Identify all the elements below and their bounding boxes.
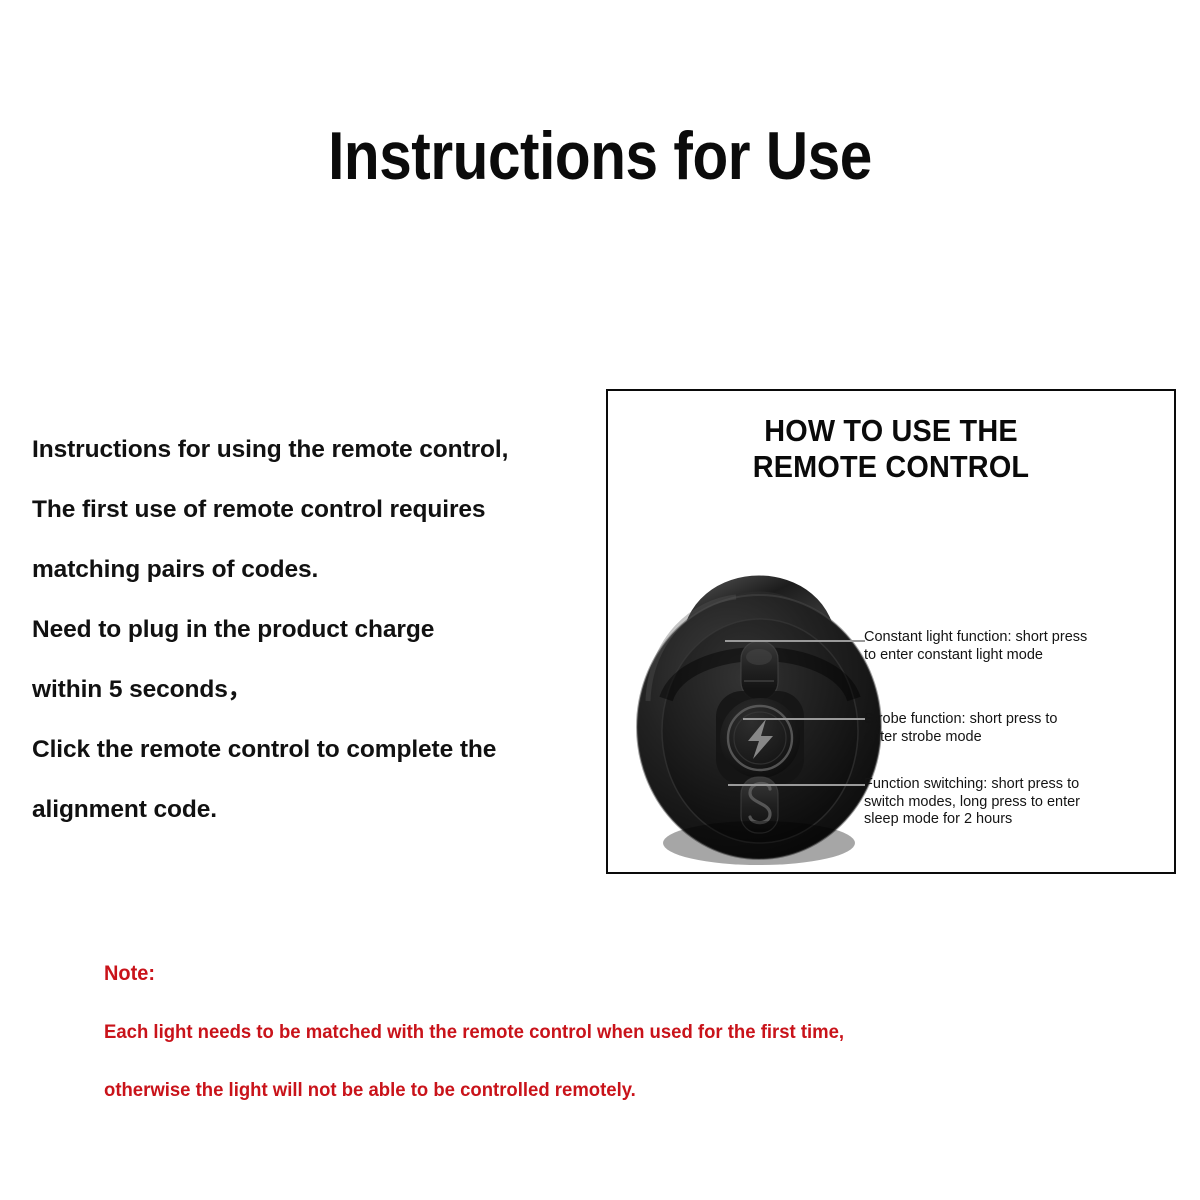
leader-line-constant-light: [725, 640, 865, 642]
note-block: Note: Each light needs to be matched wit…: [104, 945, 1124, 1119]
callout-constant-light: Constant light function: short press to …: [864, 629, 1164, 664]
callout-function-switching: Function switching: short press to switc…: [864, 776, 1164, 829]
note-line-1: Each light needs to be matched with the …: [104, 1003, 1073, 1061]
leader-line-strobe: [743, 718, 865, 720]
leader-line-function-switching: [728, 784, 865, 786]
instruction-line-1: Instructions for using the remote contro…: [32, 420, 592, 480]
instruction-line-4: Need to plug in the product charge: [32, 600, 592, 660]
instruction-line-2: The first use of remote control requires: [32, 480, 592, 540]
note-label: Note:: [104, 945, 1073, 1003]
callout-strobe: Strobe function: short press to enter st…: [864, 711, 1164, 746]
strobe-button[interactable]: [716, 691, 804, 785]
callout-function-switching-line-3: sleep mode for 2 hours: [864, 811, 1164, 829]
panel-heading-line-2: REMOTE CONTROL: [628, 449, 1154, 485]
panel-heading: HOW TO USE THE REMOTE CONTROL: [628, 413, 1154, 485]
instruction-line-5: within 5 seconds，: [32, 660, 592, 720]
callout-strobe-line-1: Strobe function: short press to: [864, 711, 1164, 729]
remote-control-illustration: [624, 531, 894, 866]
instruction-line-3: matching pairs of codes.: [32, 540, 592, 600]
panel-heading-line-1: HOW TO USE THE: [628, 413, 1154, 449]
instructions-text-block: Instructions for using the remote contro…: [32, 420, 592, 840]
callout-strobe-line-2: enter strobe mode: [864, 729, 1164, 747]
instruction-line-7: alignment code.: [32, 780, 592, 840]
instruction-sheet-page: Instructions for Use Instructions for us…: [0, 0, 1200, 1200]
callout-function-switching-line-2: switch modes, long press to enter: [864, 794, 1164, 812]
remote-control-panel: HOW TO USE THE REMOTE CONTROL: [606, 389, 1176, 874]
note-line-2: otherwise the light will not be able to …: [104, 1061, 1073, 1119]
callout-constant-light-line-1: Constant light function: short press: [864, 629, 1164, 647]
callout-function-switching-line-1: Function switching: short press to: [864, 776, 1164, 794]
page-title: Instructions for Use: [84, 122, 1116, 190]
instruction-line-6: Click the remote control to complete the: [32, 720, 592, 780]
callout-constant-light-line-2: to enter constant light mode: [864, 647, 1164, 665]
